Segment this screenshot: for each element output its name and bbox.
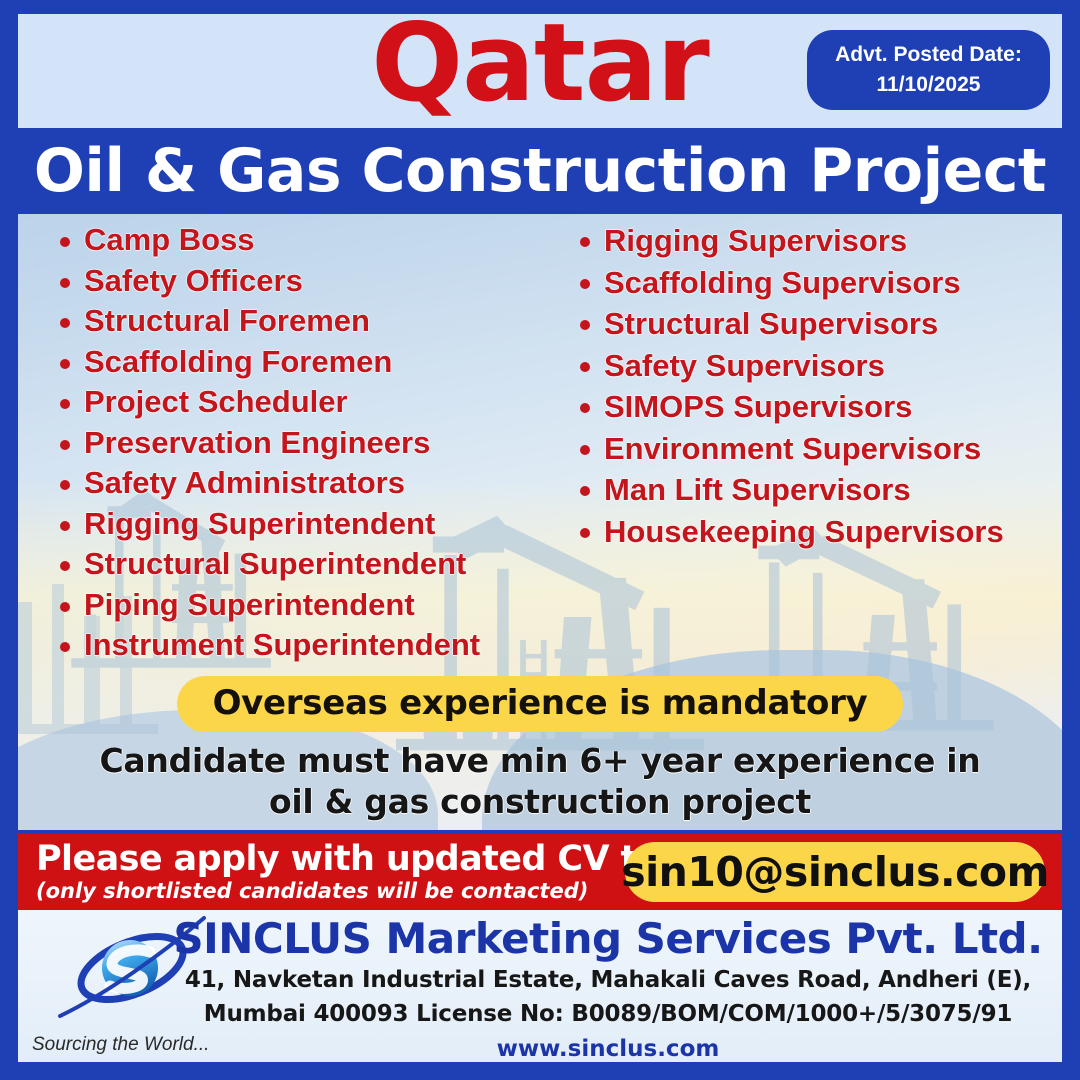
company-website[interactable]: www.sinclus.com <box>168 1036 1048 1062</box>
apply-note: (only shortlisted candidates will be con… <box>36 878 608 904</box>
job-title: Housekeeping Supervisors <box>604 514 1004 549</box>
bullet-icon <box>580 445 590 455</box>
list-item: Instrument Superintendent <box>44 625 564 666</box>
bullet-icon <box>60 440 70 450</box>
subtitle-band: Oil & Gas Construction Project <box>18 132 1062 210</box>
bullet-icon <box>60 642 70 652</box>
experience-line-2: oil & gas construction project <box>18 781 1062 822</box>
job-title: Structural Superintendent <box>84 546 466 581</box>
list-item: Environment Supervisors <box>564 428 1062 470</box>
job-list-panel: Camp Boss Safety Officers Structural For… <box>18 214 1062 830</box>
list-item: Camp Boss <box>44 220 564 261</box>
list-item: Man Lift Supervisors <box>564 469 1062 511</box>
job-title: Environment Supervisors <box>604 431 981 466</box>
bullet-icon <box>580 237 590 247</box>
list-item: Structural Superintendent <box>44 544 564 585</box>
overseas-experience-highlight: Overseas experience is mandatory <box>177 676 904 732</box>
bullet-icon <box>580 320 590 330</box>
bullet-icon <box>580 528 590 538</box>
list-item: Safety Officers <box>44 261 564 302</box>
bullet-icon <box>60 399 70 409</box>
list-item: Structural Foremen <box>44 301 564 342</box>
list-item: SIMOPS Supervisors <box>564 386 1062 428</box>
job-title: Project Scheduler <box>84 384 348 419</box>
job-advertisement-poster: Qatar Advt. Posted Date: 11/10/2025 Oil … <box>0 0 1080 1080</box>
bullet-icon <box>60 318 70 328</box>
list-item: Rigging Supervisors <box>564 220 1062 262</box>
apply-band: Please apply with updated CV to (only sh… <box>18 834 1062 910</box>
list-item: Project Scheduler <box>44 382 564 423</box>
bullet-icon <box>60 480 70 490</box>
experience-line-1: Candidate must have min 6+ year experien… <box>18 740 1062 781</box>
job-title: Safety Officers <box>84 263 303 298</box>
job-title: Structural Supervisors <box>604 306 938 341</box>
apply-headline: Please apply with updated CV to <box>36 840 608 878</box>
project-subtitle: Oil & Gas Construction Project <box>34 136 1046 206</box>
list-item: Preservation Engineers <box>44 423 564 464</box>
list-item: Scaffolding Supervisors <box>564 262 1062 304</box>
list-item: Piping Superintendent <box>44 585 564 626</box>
apply-email-address[interactable]: sin10@sinclus.com <box>625 842 1045 902</box>
job-title: Rigging Supervisors <box>604 223 907 258</box>
posted-date-label: Advt. Posted Date: <box>835 40 1022 70</box>
job-title: Safety Supervisors <box>604 348 885 383</box>
list-item: Safety Supervisors <box>564 345 1062 387</box>
bullet-icon <box>60 278 70 288</box>
company-address-line-2: Mumbai 400093 License No: B0089/BOM/COM/… <box>168 1001 1048 1027</box>
company-name: SINCLUS Marketing Services Pvt. Ltd. <box>168 914 1048 963</box>
bullet-icon <box>60 602 70 612</box>
bullet-icon <box>60 237 70 247</box>
job-column-left: Camp Boss Safety Officers Structural For… <box>44 220 564 666</box>
list-item: Safety Administrators <box>44 463 564 504</box>
job-list-right: Rigging Supervisors Scaffolding Supervis… <box>564 220 1062 552</box>
job-title: Man Lift Supervisors <box>604 472 911 507</box>
list-item: Scaffolding Foremen <box>44 342 564 383</box>
job-title: Camp Boss <box>84 222 255 257</box>
bullet-icon <box>60 561 70 571</box>
posted-date-badge: Advt. Posted Date: 11/10/2025 <box>807 30 1050 110</box>
job-title: Piping Superintendent <box>84 587 415 622</box>
job-title: Safety Administrators <box>84 465 405 500</box>
job-title: Scaffolding Foremen <box>84 344 392 379</box>
bullet-icon <box>580 279 590 289</box>
job-column-right: Rigging Supervisors Scaffolding Supervis… <box>564 220 1062 552</box>
header-band: Qatar Advt. Posted Date: 11/10/2025 <box>18 14 1062 128</box>
job-list-left: Camp Boss Safety Officers Structural For… <box>44 220 564 666</box>
list-item: Rigging Superintendent <box>44 504 564 545</box>
footer: Sourcing the World... SINCLUS Marketing … <box>18 910 1062 1062</box>
list-item: Structural Supervisors <box>564 303 1062 345</box>
experience-requirements: Overseas experience is mandatory Candida… <box>18 676 1062 822</box>
posted-date-value: 11/10/2025 <box>877 70 981 100</box>
apply-text-group: Please apply with updated CV to (only sh… <box>18 840 608 904</box>
bullet-icon <box>580 486 590 496</box>
job-title: Instrument Superintendent <box>84 627 480 662</box>
job-title: Structural Foremen <box>84 303 370 338</box>
job-title: Rigging Superintendent <box>84 506 435 541</box>
list-item: Housekeeping Supervisors <box>564 511 1062 553</box>
bullet-icon <box>60 359 70 369</box>
job-title: Preservation Engineers <box>84 425 430 460</box>
job-title: SIMOPS Supervisors <box>604 389 912 424</box>
company-address-line-1: 41, Navketan Industrial Estate, Mahakali… <box>168 967 1048 993</box>
bullet-icon <box>60 521 70 531</box>
bullet-icon <box>580 362 590 372</box>
bullet-icon <box>580 403 590 413</box>
job-title: Scaffolding Supervisors <box>604 265 961 300</box>
